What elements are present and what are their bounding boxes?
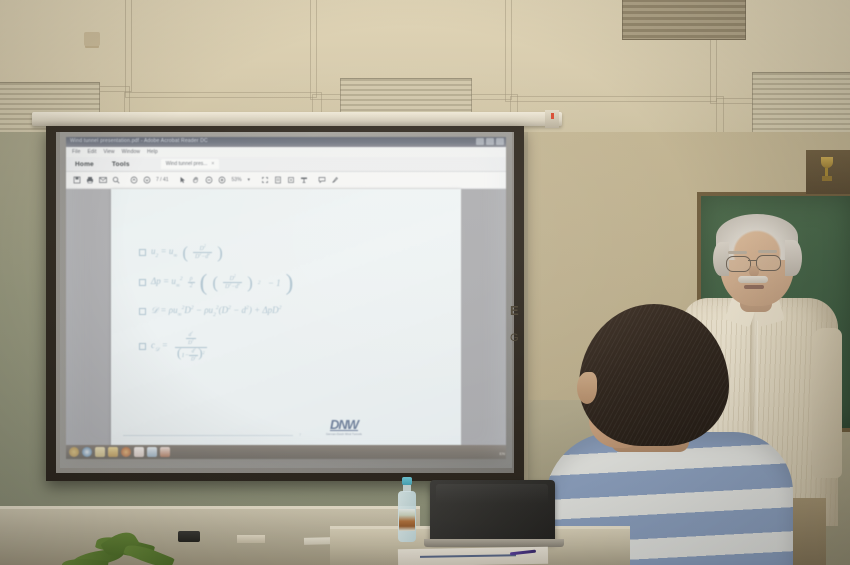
tab-document[interactable]: Wind tunnel pres... × <box>161 159 220 169</box>
water-bottle[interactable] <box>398 477 416 542</box>
zoom-level-value[interactable]: 53% <box>229 177 245 183</box>
next-page-icon[interactable] <box>140 174 153 187</box>
tab-tools[interactable]: Tools <box>103 161 139 168</box>
trophy-icon <box>820 157 834 183</box>
equation-cd: c𝒟 = d2 D2 (1−d2D2)2 <box>139 331 439 363</box>
equation-u2: u2 = u∞ ( D2 D2−d2 ) <box>139 245 439 261</box>
tab-close-icon[interactable]: × <box>211 161 214 167</box>
read-mode-icon[interactable] <box>297 174 310 187</box>
projected-acrobat-window[interactable]: Wind tunnel presentation.pdf - Adobe Acr… <box>66 137 506 459</box>
printed-handout[interactable] <box>398 547 548 565</box>
mustache <box>738 276 768 283</box>
ceiling-exhaust-vent <box>622 0 746 40</box>
save-icon[interactable] <box>70 174 83 187</box>
comment-icon[interactable] <box>315 174 328 187</box>
search-icon[interactable] <box>109 174 122 187</box>
internet-explorer-icon[interactable] <box>82 447 92 457</box>
previous-page-icon[interactable] <box>127 174 140 187</box>
logo-subtitle: German-Dutch Wind Tunnels <box>316 433 372 436</box>
window-controls[interactable] <box>476 138 504 145</box>
wall-sign-line1: E <box>510 305 532 316</box>
acrobat-icon[interactable] <box>134 447 144 457</box>
rotate-icon[interactable] <box>284 174 297 187</box>
minimize-button[interactable] <box>476 138 484 145</box>
wall-sign-line2: G <box>510 332 532 344</box>
tab-home[interactable]: Home <box>66 161 103 168</box>
window-titlebar: Wind tunnel presentation.pdf - Adobe Acr… <box>66 137 506 147</box>
smoke-detector-icon <box>84 32 100 46</box>
tab-document-label: Wind tunnel pres... <box>166 161 208 167</box>
viewport-left-gutter <box>66 189 111 459</box>
menu-bar[interactable]: File Edit View Window Help <box>66 147 506 157</box>
menu-view[interactable]: View <box>104 149 115 155</box>
tab-bar[interactable]: Home Tools Wind tunnel pres... × <box>66 157 506 172</box>
slide-page-number: 7 <box>299 432 301 437</box>
bullet-icon <box>139 343 146 350</box>
powerpoint-icon[interactable] <box>160 447 170 457</box>
page-display-icon[interactable] <box>271 174 284 187</box>
frac-numerator: D2 <box>197 245 207 252</box>
page-indicator[interactable]: 7 / 41 <box>153 177 172 183</box>
dnw-logo: DNW German-Dutch Wind Tunnels <box>316 417 372 436</box>
eyeglasses-left-lens <box>726 256 751 272</box>
chevron-down-icon[interactable]: ▾ <box>245 177 254 183</box>
roller-indicator-light <box>551 113 554 119</box>
bullet-icon <box>139 249 146 256</box>
acrobat-toolbar[interactable]: 7 / 41 53% ▾ <box>66 172 506 189</box>
laptop-lid <box>430 480 555 542</box>
presenter-arm <box>812 328 842 478</box>
hand-tool-icon[interactable] <box>190 174 203 187</box>
print-icon[interactable] <box>83 174 96 187</box>
close-button[interactable] <box>496 138 504 145</box>
document-viewport[interactable]: u2 = u∞ ( D2 D2−d2 ) Δp = u∞2 ρ 2 <box>66 189 506 459</box>
menu-help[interactable]: Help <box>147 149 158 155</box>
viewport-right-gutter <box>462 189 506 459</box>
projector-screen-roller <box>32 112 562 126</box>
outlook-icon[interactable] <box>147 447 157 457</box>
laptop[interactable] <box>430 480 555 550</box>
wall-sign: E G <box>510 305 532 344</box>
menu-window[interactable]: Window <box>122 149 140 155</box>
zoom-in-icon[interactable] <box>216 174 229 187</box>
maximize-button[interactable] <box>486 138 494 145</box>
bottle-cap[interactable] <box>402 477 412 485</box>
classroom-photo-scene: Wind tunnel presentation.pdf - Adobe Acr… <box>0 0 850 565</box>
menu-file[interactable]: File <box>72 149 80 155</box>
email-icon[interactable] <box>96 174 109 187</box>
eyeglasses-right-lens <box>756 255 781 271</box>
highlight-icon[interactable] <box>328 174 341 187</box>
equation-list: u2 = u∞ ( D2 D2−d2 ) Δp = u∞2 ρ 2 <box>139 245 439 376</box>
system-tray-language[interactable]: EN <box>499 451 505 456</box>
firefox-icon[interactable] <box>121 447 131 457</box>
equation-delta-p: Δp = u∞2 ρ 2 ( ( D2 D2−d2 )2 − 1 <box>139 274 439 292</box>
zoom-out-icon[interactable] <box>203 174 216 187</box>
start-button[interactable] <box>69 447 79 457</box>
pdf-page: u2 = u∞ ( D2 D2−d2 ) Δp = u∞2 ρ 2 <box>111 189 461 457</box>
slide-footer-rule <box>123 435 293 436</box>
office-icon[interactable] <box>108 447 118 457</box>
ceiling-air-vent <box>752 72 850 132</box>
windows-taskbar[interactable]: EN <box>66 445 506 459</box>
logo-mark-text: DNW <box>316 417 372 432</box>
frac-denominator: D2−d2 <box>193 252 212 260</box>
potted-plant <box>62 525 182 565</box>
menu-edit[interactable]: Edit <box>87 149 96 155</box>
chalk-box[interactable] <box>237 535 265 543</box>
equation-drag: 𝒟 = ρu∞2D2 − ρu22(D2 − d2) + ΔpD2 <box>139 305 439 318</box>
window-title: Wind tunnel presentation.pdf - Adobe Acr… <box>70 138 208 144</box>
select-tool-icon[interactable] <box>177 174 190 187</box>
bullet-icon <box>139 279 146 286</box>
bullet-icon <box>139 308 146 315</box>
file-explorer-icon[interactable] <box>95 447 105 457</box>
fit-page-icon[interactable] <box>258 174 271 187</box>
